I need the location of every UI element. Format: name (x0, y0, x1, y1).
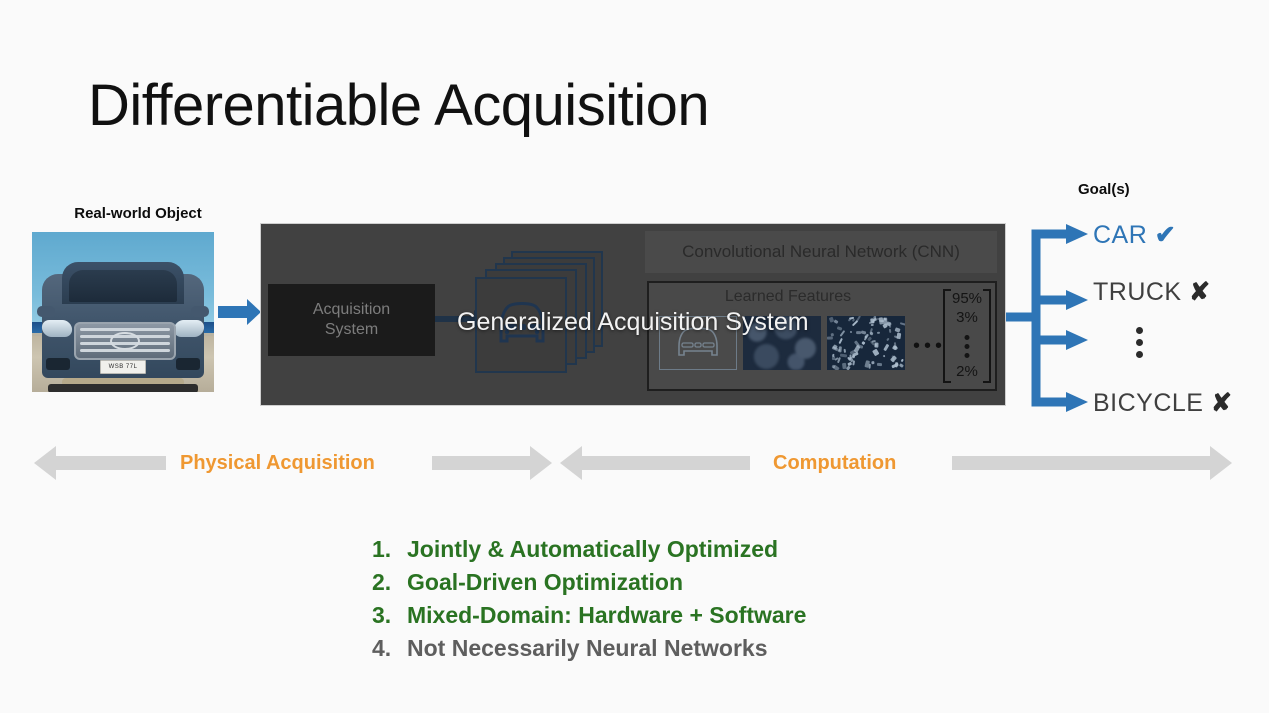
list-item: 4. Not Necessarily Neural Networks (372, 632, 806, 665)
photo-car-headlight-left (41, 320, 73, 337)
key-points-list: 1. Jointly & Automatically Optimized 2. … (372, 533, 806, 665)
goal-item-car[interactable]: CAR ✔ (1093, 220, 1176, 250)
computation-arrow-left-bar (582, 456, 750, 470)
photo-car-mirror-left (37, 306, 55, 317)
photo-car-foglight-left (46, 358, 70, 370)
goals-fanout-connector (1006, 222, 1098, 412)
checkmark-icon: ✔ (1155, 221, 1176, 249)
acquisition-pipeline-panel: Acquisition System Convolutiona (260, 223, 1006, 406)
list-item-number: 1. (372, 533, 407, 566)
cross-icon-bicycle: ✘ (1211, 389, 1232, 417)
photo-car-grille (74, 322, 176, 360)
probability-top: 95% (943, 290, 991, 307)
goal-item-bicycle[interactable]: BICYCLE ✘ (1093, 388, 1232, 418)
list-item-text: Not Necessarily Neural Networks (407, 632, 768, 665)
photo-car-foglight-right (176, 358, 200, 370)
feature-ellipsis: ••• (913, 335, 946, 358)
probability-ellipsis-icon (965, 331, 970, 362)
goal-label-truck: TRUCK (1093, 278, 1182, 306)
generalized-acquisition-system-label: Generalized Acquisition System (457, 308, 809, 337)
photo-car-shadow (48, 384, 198, 392)
goal-label-car: CAR (1093, 221, 1147, 249)
computation-arrow-left-head-icon (560, 446, 582, 480)
acquisition-system-box: Acquisition System (268, 284, 435, 356)
learned-features-label: Learned Features (663, 288, 913, 306)
flow-arrow-input (218, 306, 248, 318)
list-item-number: 3. (372, 599, 407, 632)
physical-arrow-left-head-icon (34, 446, 56, 480)
probability-second: 3% (943, 309, 991, 326)
photo-car-headlight-right (173, 320, 205, 337)
probability-vector: 95% 3% 2% (943, 289, 991, 383)
photo-car-emblem (110, 332, 140, 350)
cross-icon-truck: ✘ (1189, 278, 1210, 306)
slide-canvas: Differentiable Acquisition Real-world Ob… (0, 0, 1269, 713)
goal-label-bicycle: BICYCLE (1093, 389, 1203, 417)
list-item-number: 2. (372, 566, 407, 599)
probability-last: 2% (943, 363, 991, 380)
real-world-object-photo: WSB 77L (32, 232, 214, 392)
photo-car-windshield (69, 270, 177, 302)
list-item: 3. Mixed-Domain: Hardware + Software (372, 599, 806, 632)
feature-thumbnail-edges (827, 316, 905, 370)
photo-car-mirror-right (191, 306, 209, 317)
physical-arrow-right-head-icon (530, 446, 552, 480)
phase-label-physical: Physical Acquisition (180, 452, 375, 475)
list-item-text: Goal-Driven Optimization (407, 566, 683, 599)
list-item-number: 4. (372, 632, 407, 665)
list-item-text: Mixed-Domain: Hardware + Software (407, 599, 806, 632)
acquisition-system-line1: Acquisition (313, 300, 390, 320)
goal-item-truck[interactable]: TRUCK ✘ (1093, 277, 1211, 307)
photo-car-license-plate: WSB 77L (100, 360, 146, 374)
physical-arrow-left-bar (56, 456, 166, 470)
computation-arrow-right-bar (952, 456, 1210, 470)
page-title: Differentiable Acquisition (88, 72, 709, 139)
physical-arrow-right-bar (432, 456, 530, 470)
list-item: 2. Goal-Driven Optimization (372, 566, 806, 599)
cnn-title-bar: Convolutional Neural Network (CNN) (645, 231, 997, 273)
phase-label-computation: Computation (773, 452, 896, 475)
acquisition-system-line2: System (325, 320, 378, 340)
computation-arrow-right-head-icon (1210, 446, 1232, 480)
list-item: 1. Jointly & Automatically Optimized (372, 533, 806, 566)
list-item-text: Jointly & Automatically Optimized (407, 533, 778, 566)
real-world-object-label: Real-world Object (60, 205, 216, 222)
goals-header: Goal(s) (1078, 181, 1130, 198)
goal-ellipsis-icon (1136, 322, 1143, 363)
